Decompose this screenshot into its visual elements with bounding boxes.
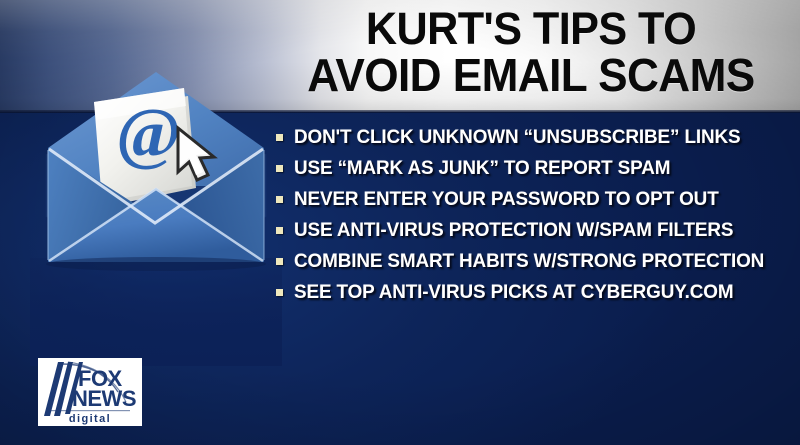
square-bullet-icon [276, 227, 283, 234]
list-item: SEE TOP ANTI-VIRUS PICKS AT CYBERGUY.COM [276, 277, 786, 308]
fox-news-digital-logo: FOX NEWS digital [38, 358, 142, 426]
square-bullet-icon [276, 289, 283, 296]
square-bullet-icon [276, 258, 283, 265]
tip-text: NEVER ENTER YOUR PASSWORD TO OPT OUT [294, 189, 719, 210]
title-line-2: AVOID EMAIL SCAMS [286, 52, 776, 98]
svg-text:NEWS: NEWS [72, 386, 136, 411]
square-bullet-icon [276, 165, 283, 172]
list-item: USE “MARK AS JUNK” TO REPORT SPAM [276, 153, 786, 184]
list-item: COMBINE SMART HABITS W/STRONG PROTECTION [276, 246, 786, 277]
page-title: KURT'S TIPS TO AVOID EMAIL SCAMS [276, 6, 786, 98]
tips-list: DON'T CLICK UNKNOWN “UNSUBSCRIBE” LINKS … [276, 122, 786, 308]
open-envelope-with-at-symbol-and-cursor-icon: @ [38, 66, 274, 272]
tip-text: USE ANTI-VIRUS PROTECTION W/SPAM FILTERS [294, 220, 733, 241]
list-item: USE ANTI-VIRUS PROTECTION W/SPAM FILTERS [276, 215, 786, 246]
tip-text: USE “MARK AS JUNK” TO REPORT SPAM [294, 158, 670, 179]
title-line-1: KURT'S TIPS TO [286, 6, 776, 52]
tip-text: DON'T CLICK UNKNOWN “UNSUBSCRIBE” LINKS [294, 127, 740, 148]
square-bullet-icon [276, 134, 283, 141]
square-bullet-icon [276, 196, 283, 203]
svg-text:@: @ [116, 95, 181, 172]
tip-text: COMBINE SMART HABITS W/STRONG PROTECTION [294, 251, 764, 272]
svg-text:digital: digital [69, 413, 111, 425]
tip-text: SEE TOP ANTI-VIRUS PICKS AT CYBERGUY.COM [294, 282, 733, 303]
list-item: NEVER ENTER YOUR PASSWORD TO OPT OUT [276, 184, 786, 215]
list-item: DON'T CLICK UNKNOWN “UNSUBSCRIBE” LINKS [276, 122, 786, 153]
broadcast-graphic: @ KURT'S TIPS TO A [0, 0, 800, 445]
